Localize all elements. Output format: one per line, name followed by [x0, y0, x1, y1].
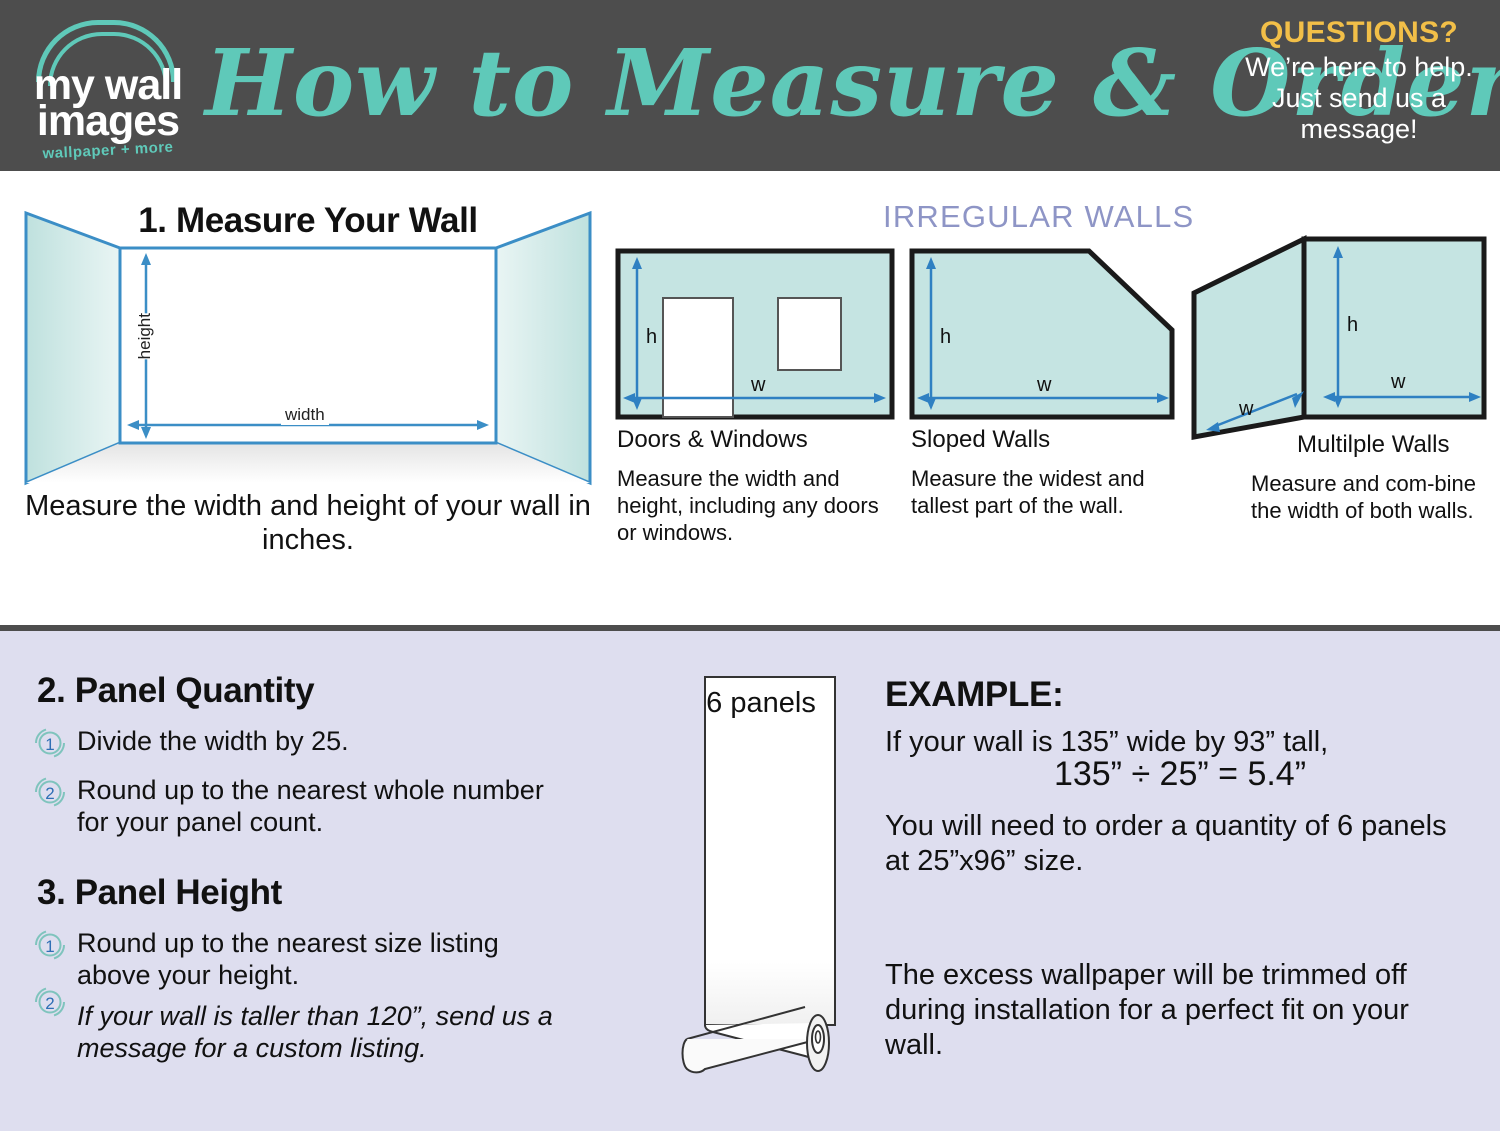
step3-item-2: 2 If your wall is taller than 120”, send…: [33, 985, 578, 1064]
step3-item-text: If your wall is taller than 120”, send u…: [77, 1001, 578, 1064]
number-badge-icon: 2: [33, 985, 67, 1019]
height-label: height: [131, 313, 159, 359]
svg-text:w: w: [750, 374, 766, 396]
step1-caption: Measure the width and height of your wal…: [13, 489, 603, 557]
step3-item-1: 1 Round up to the nearest size listing a…: [33, 928, 578, 991]
irregular-card-desc: Measure the widest and tallest part of t…: [911, 466, 1177, 520]
brand-logo: my wall images wallpaper + more: [18, 18, 198, 158]
doors-windows-svg: h w: [615, 248, 895, 420]
irregular-card-desc: Measure and com-bine the width of both w…: [1251, 471, 1500, 525]
number-badge-icon: 1: [33, 928, 67, 962]
step1-title: 1. Measure Your Wall: [13, 201, 603, 241]
svg-text:1: 1: [45, 937, 54, 956]
example-line-2: You will need to order a quantity of 6 p…: [885, 809, 1455, 879]
roll-panel-count-label: 6 panels: [679, 687, 843, 720]
irregular-card-name: Sloped Walls: [911, 426, 1050, 454]
page-header: my wall images wallpaper + more How to M…: [0, 0, 1500, 171]
section-divider: [0, 625, 1500, 631]
step2-item-2: 2 Round up to the nearest whole number f…: [33, 775, 578, 838]
svg-text:2: 2: [45, 994, 54, 1013]
svg-text:h: h: [646, 326, 657, 348]
questions-block: QUESTIONS? We’re here to help. Just send…: [1228, 16, 1490, 146]
questions-heading: QUESTIONS?: [1228, 16, 1490, 50]
irregular-walls-heading: IRREGULAR WALLS: [883, 199, 1203, 235]
wallpaper-roll-illustration: 6 panels: [679, 671, 843, 1081]
example-line-3: The excess wallpaper will be trimmed off…: [885, 958, 1445, 1062]
irregular-card-name: Doors & Windows: [617, 426, 808, 454]
irregular-card-name: Multilple Walls: [1297, 431, 1449, 459]
svg-text:w: w: [1390, 371, 1406, 393]
svg-text:h: h: [1347, 314, 1358, 336]
svg-text:w: w: [1238, 398, 1254, 420]
example-heading: EXAMPLE:: [885, 675, 1063, 715]
logo-line-2: images: [18, 100, 198, 143]
page-title: How to Measure & Order: [205, 8, 1215, 158]
irregular-card-sloped-walls: h w Sloped Walls Measure the widest and …: [909, 248, 1177, 425]
svg-text:w: w: [1036, 374, 1052, 396]
svg-text:h: h: [940, 326, 951, 348]
sloped-walls-svg: h w: [909, 248, 1177, 420]
number-badge-icon: 2: [33, 775, 67, 809]
step2-item-1: 1 Divide the width by 25.: [33, 726, 573, 760]
number-badge-icon: 1: [33, 726, 67, 760]
roll-svg: [679, 671, 843, 1081]
irregular-card-doors-windows: h w Doors & Windows Measure the width an…: [615, 248, 895, 425]
irregular-card-desc: Measure the width and height, including …: [617, 466, 895, 546]
svg-text:1: 1: [45, 735, 54, 754]
infographic-page: my wall images wallpaper + more How to M…: [0, 0, 1500, 1125]
irregular-card-multiple-walls: h w w Multilple Walls Measure and com-bi…: [1191, 231, 1491, 446]
width-label: width: [281, 405, 329, 425]
questions-body: We’re here to help. Just send us a messa…: [1228, 52, 1490, 146]
step3-title: 3. Panel Height: [37, 873, 282, 913]
step3-item-text: Round up to the nearest size listing abo…: [77, 928, 578, 991]
example-equation: 135” ÷ 25” = 5.4”: [885, 755, 1475, 794]
step2-item-text: Round up to the nearest whole number for…: [77, 775, 578, 838]
svg-text:2: 2: [45, 784, 54, 803]
step1-room-diagram: 1. Measure Your Wall height width Measur…: [13, 193, 603, 563]
multiple-walls-svg: h w w: [1191, 231, 1491, 441]
step2-item-text: Divide the width by 25.: [77, 726, 349, 758]
step2-title: 2. Panel Quantity: [37, 671, 314, 711]
